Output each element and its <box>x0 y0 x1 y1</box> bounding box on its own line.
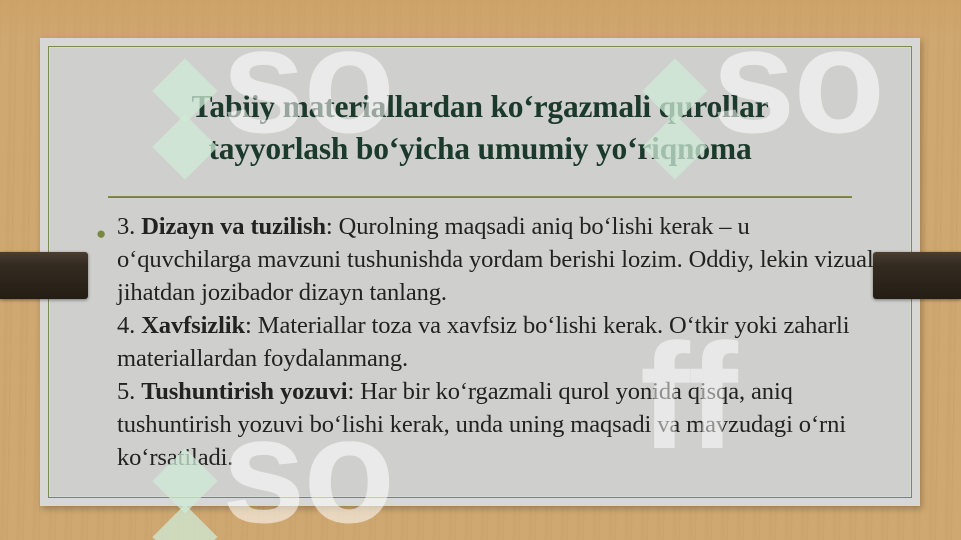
body-text-block: 3. Dizayn va tuzilish: Qurolning maqsadi… <box>117 211 882 475</box>
slide-title: Tabiiy materiallardan ko‘rgazmali quroll… <box>80 86 880 170</box>
paragraph-4-separator: : <box>245 312 252 339</box>
slide-title-line-2: tayyorlash bo‘yicha umumiy yo‘riqnoma <box>80 128 880 170</box>
title-divider <box>108 196 852 198</box>
paragraph-4: 4. Xavfsizlik: Materiallar toza va xavfs… <box>117 310 882 376</box>
left-accent-bar <box>0 252 88 299</box>
paragraph-4-heading: Xavfsizlik <box>141 312 245 339</box>
slide-title-line-1: Tabiiy materiallardan ko‘rgazmali quroll… <box>80 86 880 128</box>
slide-root: Tabiiy materiallardan ko‘rgazmali quroll… <box>0 0 961 540</box>
paragraph-3-number: 3. <box>117 213 135 240</box>
slide-content: Tabiiy materiallardan ko‘rgazmali quroll… <box>50 48 910 496</box>
slide-panel: Tabiiy materiallardan ko‘rgazmali quroll… <box>50 48 910 496</box>
bullet-list-item: ● 3. Dizayn va tuzilish: Qurolning maqsa… <box>96 211 882 475</box>
paragraph-3-heading: Dizayn va tuzilish <box>141 213 326 240</box>
paragraph-3-separator: : <box>326 213 333 240</box>
paragraph-5-heading: Tushuntirish yozuvi <box>141 378 347 405</box>
bullet-point-icon: ● <box>96 211 117 242</box>
paragraph-5: 5. Tushuntirish yozuvi: Har bir ko‘rgazm… <box>117 376 882 475</box>
slide-body: ● 3. Dizayn va tuzilish: Qurolning maqsa… <box>96 211 882 475</box>
paragraph-4-number: 4. <box>117 312 135 339</box>
right-accent-bar <box>873 252 961 299</box>
paragraph-3: 3. Dizayn va tuzilish: Qurolning maqsadi… <box>117 211 882 310</box>
paragraph-5-number: 5. <box>117 378 135 405</box>
slide-frame: Tabiiy materiallardan ko‘rgazmali quroll… <box>40 38 920 506</box>
